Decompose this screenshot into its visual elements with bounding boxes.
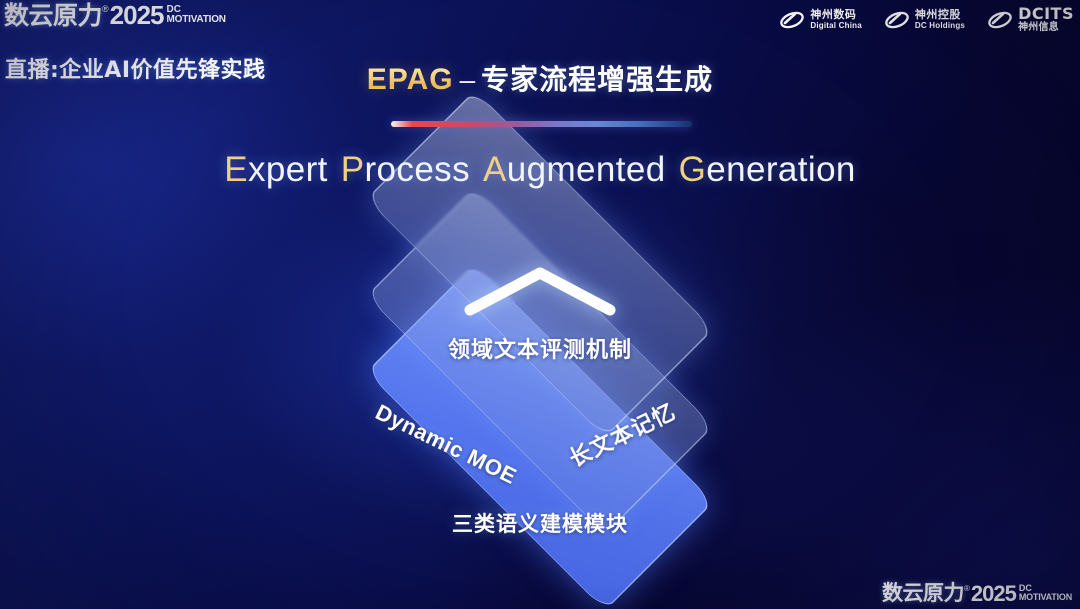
partner-text: 神州控股 DC Holdings: [915, 9, 965, 31]
gradient-divider: [391, 121, 692, 127]
subtitle-rest-augmented: ugmented: [507, 150, 666, 189]
page-subtitle: ExpertProcessAugmentedGeneration: [0, 150, 1080, 190]
diagram-layer-bottom-label: 三类语义建模模块: [0, 508, 1080, 538]
partner-text: DCITS 神州信息: [1018, 6, 1074, 34]
brand-sub: DC MOTIVATION: [167, 5, 226, 25]
top-bar: 数云原力 ® 2025 DC MOTIVATION 神州数码 Digital C…: [0, 0, 1080, 42]
subtitle-rest-expert: xpert: [248, 150, 328, 189]
subtitle-cap-p: P: [341, 150, 365, 189]
brand-logo: 数云原力 ® 2025 DC MOTIVATION: [4, 2, 226, 30]
brand-registered-mark: ®: [102, 4, 109, 15]
headline-dash: –: [460, 64, 476, 95]
partner-logo-dcits: DCITS 神州信息: [987, 6, 1074, 34]
footer-brand-logo: 数云原力 ® 2025 DC MOTIVATION: [882, 582, 1072, 605]
swoosh-icon: [779, 9, 805, 31]
partner-name-en: 神州信息: [1018, 22, 1074, 34]
partner-name-en: DC Holdings: [915, 20, 965, 31]
subtitle-cap-a: A: [483, 150, 507, 189]
footer-brand-sub-line2: MOTIVATION: [1019, 593, 1072, 602]
subtitle-cap-e: E: [224, 150, 248, 189]
diagram-layer-top-label: 领域文本评测机制: [0, 332, 1080, 364]
headline-title-cn: 专家流程增强生成: [481, 63, 713, 96]
partner-name-cn: DCITS: [1018, 6, 1074, 22]
brand-year: 2025: [110, 2, 164, 29]
footer-brand-year: 2025: [971, 582, 1016, 605]
partner-name-en: Digital China: [810, 20, 862, 31]
partner-text: 神州数码 Digital China: [810, 9, 862, 31]
subtitle-word-augmented: Augmented: [483, 150, 666, 189]
partner-logo-dc-holdings: 神州控股 DC Holdings: [884, 9, 965, 31]
subtitle-word-generation: Generation: [679, 150, 856, 189]
partner-logo-digital-china: 神州数码 Digital China: [779, 9, 862, 31]
subtitle-word-expert: Expert: [224, 150, 328, 189]
headline-acronym: EPAG: [367, 63, 454, 96]
footer-registered-mark: ®: [964, 584, 970, 593]
partner-name-cn: 神州数码: [810, 9, 862, 20]
swoosh-icon: [987, 9, 1013, 31]
page-title: EPAG–专家流程增强生成: [0, 58, 1080, 98]
partner-name-cn: 神州控股: [915, 9, 965, 20]
footer-brand-sub: DC MOTIVATION: [1019, 584, 1072, 602]
brand-sub-line2: MOTIVATION: [167, 15, 226, 25]
footer-brand-name-cn: 数云原力: [882, 582, 964, 605]
subtitle-rest-generation: eneration: [706, 150, 856, 189]
partner-logo-group: 神州数码 Digital China 神州控股 DC Holdings: [779, 6, 1074, 34]
subtitle-cap-g: G: [679, 150, 707, 189]
swoosh-icon: [884, 9, 910, 31]
chevron-up-icon: [462, 264, 618, 318]
subtitle-word-process: Process: [341, 150, 470, 189]
subtitle-rest-process: rocess: [365, 150, 471, 189]
brand-name-cn: 数云原力: [4, 2, 102, 30]
slide-canvas: 数云原力 ® 2025 DC MOTIVATION 神州数码 Digital C…: [0, 0, 1080, 609]
